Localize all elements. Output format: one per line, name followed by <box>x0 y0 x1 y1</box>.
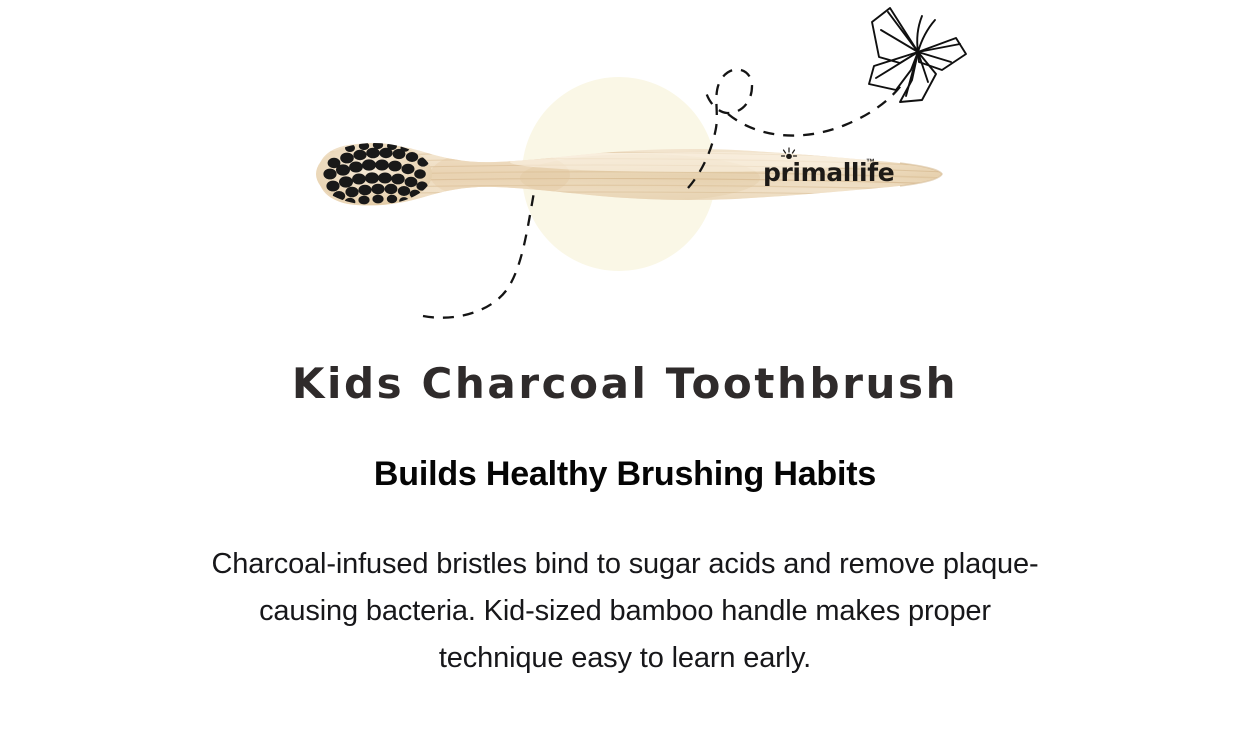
product-tagline: Builds Healthy Brushing Habits <box>0 456 1250 493</box>
dashed-flight-path-lower <box>423 192 534 318</box>
product-feature-page: primallife ™ <box>0 0 1250 735</box>
product-description: Charcoal-infused bristles bind to sugar … <box>210 541 1040 682</box>
hero-illustration: primallife ™ <box>0 0 1250 350</box>
hero-product-image: primallife ™ <box>0 0 1250 350</box>
product-copy: Kids Charcoal Toothbrush Builds Healthy … <box>0 362 1250 682</box>
butterfly-line-art <box>869 8 966 102</box>
page-title: Kids Charcoal Toothbrush <box>0 362 1250 406</box>
dashed-flight-path-upper <box>728 80 905 136</box>
brand-trademark: ™ <box>866 157 875 167</box>
